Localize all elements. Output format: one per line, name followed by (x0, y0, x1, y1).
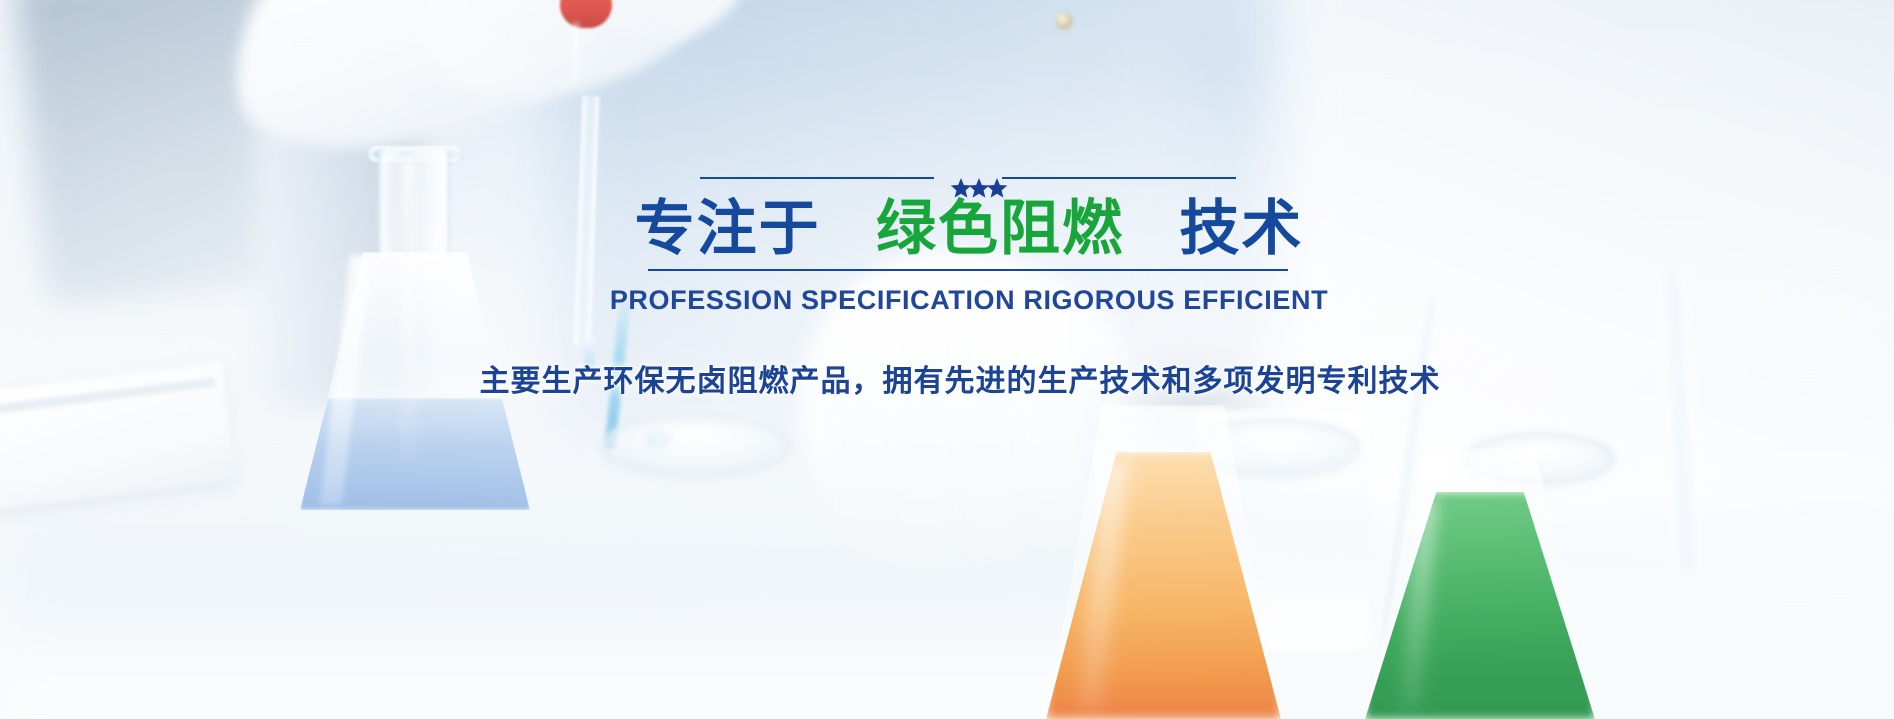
lab-coat-button (1055, 12, 1073, 30)
pipette-bulb-highlight (572, 22, 580, 80)
pipette-bulb (562, 14, 608, 100)
banner-content: 专注于 绿色阻燃 技术 PROFESSION SPECIFICATION RIG… (0, 168, 1894, 400)
rule-line-left (700, 177, 934, 179)
english-subtitle: PROFESSION SPECIFICATION RIGOROUS EFFICI… (610, 285, 1328, 316)
headline-part-2: 绿色阻燃 (876, 195, 1124, 262)
petri-dish-1 (600, 414, 790, 476)
headline: 专注于 绿色阻燃 技术 (635, 194, 1304, 265)
description-text: 主要生产环保无卤阻燃产品，拥有先进的生产技术和多项发明专利技术 (480, 356, 1441, 400)
headline-part-3: 技术 (1179, 195, 1303, 262)
rule-line-right (1002, 177, 1236, 179)
hero-banner: 专注于 绿色阻燃 技术 PROFESSION SPECIFICATION RIG… (0, 0, 1894, 719)
decorative-rule-bottom (648, 269, 1288, 271)
headline-part-1: 专注于 (635, 195, 821, 262)
decorative-rule-top (648, 168, 1288, 188)
